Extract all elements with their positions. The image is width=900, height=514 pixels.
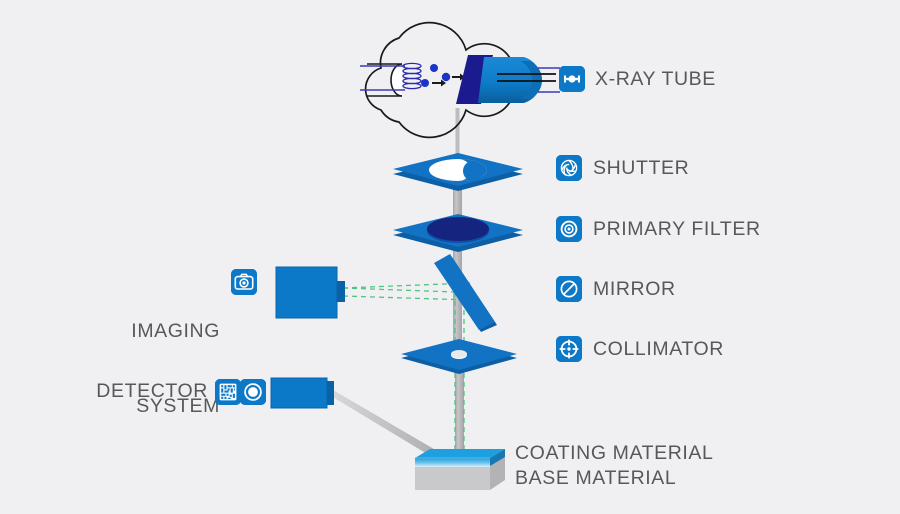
label-imaging-system-line1: IMAGING <box>60 319 220 344</box>
label-xray-tube: X-RAY TUBE <box>595 68 716 91</box>
label-mirror: MIRROR <box>593 278 676 301</box>
diagram-canvas: X-RAY TUBE SHUTTER PRIMARY FILTER <box>0 0 900 514</box>
crosshair-icon <box>556 336 582 362</box>
label-base-material: BASE MATERIAL <box>515 467 676 490</box>
label-shutter: SHUTTER <box>593 157 689 180</box>
label-collimator: COLLIMATOR <box>593 338 724 361</box>
label-imaging-system: IMAGING SYSTEM <box>60 269 220 469</box>
camera-icon <box>231 269 257 295</box>
sample-specimen <box>415 449 505 490</box>
lens-circle-icon <box>240 379 266 405</box>
label-detector: DETECTOR <box>40 380 208 403</box>
collimator-component <box>401 339 517 374</box>
shutter-component <box>393 153 523 191</box>
detector-body <box>271 378 334 408</box>
mirror-component <box>434 254 497 332</box>
label-primary-filter: PRIMARY FILTER <box>593 218 761 241</box>
xray-tube-assembly <box>360 23 560 138</box>
filter-target-icon <box>556 216 582 242</box>
primary-filter-component <box>393 214 523 252</box>
mirror-slash-icon <box>556 276 582 302</box>
imaging-system-camera <box>276 267 345 318</box>
sensor-chip-icon <box>215 379 241 405</box>
xray-tube-icon <box>559 66 585 92</box>
label-coating-material: COATING MATERIAL <box>515 442 713 465</box>
aperture-icon <box>556 155 582 181</box>
